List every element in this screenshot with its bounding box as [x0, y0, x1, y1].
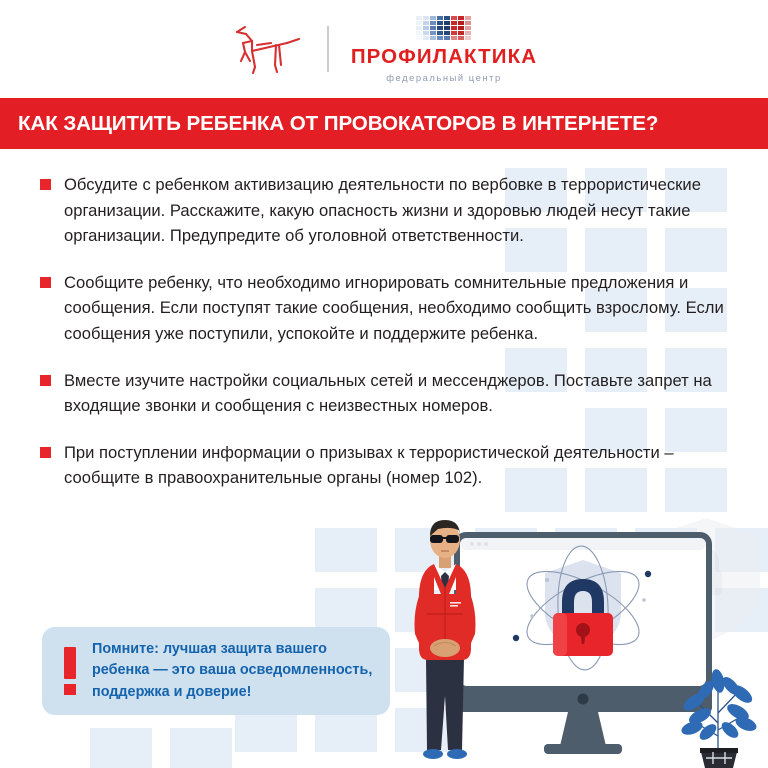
remember-callout: Помните: лучшая защита вашего ребенка — …: [42, 627, 390, 715]
tip-text: Обсудите с ребенком активизацию деятельн…: [64, 172, 740, 249]
exclamation-dot: [64, 684, 76, 695]
square-bullet-icon: [40, 447, 51, 458]
callout-text: Помните: лучшая защита вашего ребенка — …: [92, 639, 374, 704]
brand-block: ПРОФИЛАКТИКА федеральный центр: [351, 16, 537, 82]
tip-text: Сообщите ребенку, что необходимо игнорир…: [64, 270, 740, 347]
logo-divider: [327, 26, 329, 72]
list-item: Обсудите с ребенком активизацию деятельн…: [40, 172, 740, 249]
desktop-monitor-icon: [454, 532, 712, 754]
exclamation-bar: [64, 647, 76, 679]
tips-list: Обсудите с ребенком активизацию деятельн…: [40, 172, 740, 512]
list-item: Вместе изучите настройки социальных сете…: [40, 368, 740, 419]
list-item: Сообщите ребенку, что необходимо игнорир…: [40, 270, 740, 347]
illustration: [408, 518, 768, 768]
page-title: КАК ЗАЩИТИТЬ РЕБЕНКА ОТ ПРОВОКАТОРОВ В И…: [0, 112, 658, 136]
square-bullet-icon: [40, 179, 51, 190]
tip-text: Вместе изучите настройки социальных сете…: [64, 368, 740, 419]
brand-subtitle: федеральный центр: [386, 73, 501, 82]
pixel-grid-icon: [416, 16, 472, 44]
exclamation-mark-icon: [62, 647, 78, 695]
deer-line-art-icon: [231, 21, 305, 77]
title-banner: КАК ЗАЩИТИТЬ РЕБЕНКА ОТ ПРОВОКАТОРОВ В И…: [0, 98, 768, 149]
brand-name: ПРОФИЛАКТИКА: [351, 47, 537, 68]
list-item: При поступлении информации о призывах к …: [40, 440, 740, 491]
logo-strip: ПРОФИЛАКТИКА федеральный центр: [0, 0, 768, 98]
square-bullet-icon: [40, 277, 51, 288]
square-bullet-icon: [40, 375, 51, 386]
tip-text: При поступлении информации о призывах к …: [64, 440, 740, 491]
